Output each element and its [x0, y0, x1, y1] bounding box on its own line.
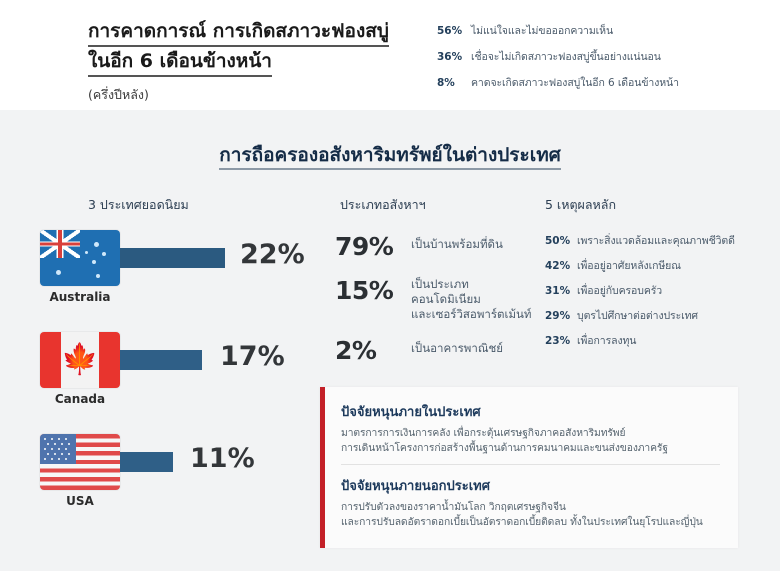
top-stat-label: คาดจะเกิดสภาวะฟองสบู่ในอีก 6 เดือนข้างหน…: [471, 74, 679, 91]
reason-label: เพื่อการลงทุน: [577, 332, 636, 349]
top-stats-list: 56% ไม่แน่ใจและไม่ขอออกความเห็น 36% เชื่…: [437, 22, 679, 100]
bar-canada: [120, 350, 202, 370]
country-label-canada: Canada: [40, 392, 120, 406]
country-label-australia: Australia: [40, 290, 120, 304]
reason-label: เพื่ออยู่อาศัยหลังเกษียณ: [577, 257, 681, 274]
headline-line-1: การคาดการณ์ การเกิดสภาวะฟองสบู่: [88, 19, 389, 47]
property-type-item: 79% เป็นบ้านพร้อมที่ดิน: [335, 232, 535, 262]
flag-usa-icon: [40, 434, 120, 490]
property-type-label-line1: เป็นอาคารพาณิชย์: [411, 341, 503, 356]
property-type-label-line2: และเซอร์วิสอพาร์ตเม้นท์: [411, 307, 535, 322]
property-type-percent: 79%: [335, 232, 411, 262]
internal-factors-block: ปัจจัยหนุนภายในประเทศ มาตรการการเงินการค…: [341, 401, 720, 465]
reason-percent: 23%: [545, 335, 577, 347]
headline-group: การคาดการณ์ การเกิดสภาวะฟองสบู่ ในอีก 6 …: [88, 19, 389, 105]
internal-factors-line-1: มาตรการการเงินการคลัง เพื่อกระตุ้นเศรษฐก…: [341, 426, 720, 441]
reason-percent: 42%: [545, 260, 577, 272]
external-factors-line-2: และการปรับลดอัตราดอกเบี้ยเป็นอัตราดอกเบี…: [341, 515, 720, 530]
column-header-types: ประเภทอสังหาฯ: [340, 195, 426, 215]
top-stat-item: 56% ไม่แน่ใจและไม่ขอออกความเห็น: [437, 22, 679, 39]
top-section: การคาดการณ์ การเกิดสภาวะฟองสบู่ ในอีก 6 …: [0, 0, 780, 110]
external-factors-title: ปัจจัยหนุนภายนอกประเทศ: [341, 475, 720, 496]
top-stat-percent: 8%: [437, 77, 471, 89]
property-type-item: 15% เป็นประเภทคอนโดมิเนียม และเซอร์วิสอพ…: [335, 276, 535, 322]
headline-subtitle: (ครึ่งปีหลัง): [88, 85, 389, 105]
supporting-factors-panel: ปัจจัยหนุนภายในประเทศ มาตรการการเงินการค…: [320, 387, 738, 548]
main-section: การถือครองอสังหาริมทรัพย์ในต่างประเทศ 3 …: [0, 110, 780, 571]
top-stat-percent: 56%: [437, 25, 471, 37]
reason-label: เพราะสิ่งแวดล้อมและคุณภาพชีวิตดี: [577, 232, 735, 249]
reason-item: 31% เพื่ออยู่กับครอบครัว: [545, 282, 765, 299]
property-type-label: เป็นบ้านพร้อมที่ดิน: [411, 232, 503, 252]
bar-usa: [120, 452, 173, 472]
flag-australia-icon: [40, 230, 120, 286]
reason-percent: 29%: [545, 310, 577, 322]
top-stat-percent: 36%: [437, 51, 471, 63]
country-label-usa: USA: [40, 494, 120, 508]
column-header-countries: 3 ประเทศยอดนิยม: [88, 195, 189, 215]
property-type-label: เป็นประเภทคอนโดมิเนียม และเซอร์วิสอพาร์ต…: [411, 276, 535, 322]
reason-label: บุตรไปศึกษาต่อต่างประเทศ: [577, 307, 698, 324]
property-type-percent: 2%: [335, 336, 411, 366]
reason-label: เพื่ออยู่กับครอบครัว: [577, 282, 662, 299]
external-factors-line-1: การปรับตัวลงของราคาน้ำมันโลก วิกฤตเศรษฐก…: [341, 500, 720, 515]
internal-factors-line-2: การเดินหน้าโครงการก่อสร้างพื้นฐานด้านการ…: [341, 441, 720, 456]
main-title-text: การถือครองอสังหาริมทรัพย์ในต่างประเทศ: [219, 144, 561, 170]
main-title: การถือครองอสังหาริมทรัพย์ในต่างประเทศ: [0, 110, 780, 170]
property-type-label-line1: เป็นประเภทคอนโดมิเนียม: [411, 277, 535, 307]
reason-item: 50% เพราะสิ่งแวดล้อมและคุณภาพชีวิตดี: [545, 232, 765, 249]
property-type-label: เป็นอาคารพาณิชย์: [411, 336, 503, 356]
reason-percent: 50%: [545, 235, 577, 247]
footer-strip: [0, 571, 780, 581]
country-row: 22% Australia: [40, 230, 330, 332]
reason-percent: 31%: [545, 285, 577, 297]
reason-item: 42% เพื่ออยู่อาศัยหลังเกษียณ: [545, 257, 765, 274]
property-type-item: 2% เป็นอาคารพาณิชย์: [335, 336, 535, 366]
bar-australia: [120, 248, 225, 268]
bar-value-usa: 11%: [190, 443, 255, 474]
column-header-reasons: 5 เหตุผลหลัก: [545, 195, 616, 215]
reasons-list: 50% เพราะสิ่งแวดล้อมและคุณภาพชีวิตดี 42%…: [545, 232, 765, 357]
top-stat-item: 36% เชื่อจะไม่เกิดสภาวะฟองสบู่ขึ้นอย่างแ…: [437, 48, 679, 65]
headline-line-2: ในอีก 6 เดือนข้างหน้า: [88, 49, 272, 77]
bar-value-canada: 17%: [220, 341, 285, 372]
country-bar-chart: 22% Australia 🍁 17% Canada: [40, 230, 330, 536]
country-row: 11% USA: [40, 434, 330, 536]
external-factors-block: ปัจจัยหนุนภายนอกประเทศ การปรับตัวลงของรา…: [341, 475, 720, 538]
bar-value-australia: 22%: [240, 239, 305, 270]
country-row: 🍁 17% Canada: [40, 332, 330, 434]
top-stat-label: เชื่อจะไม่เกิดสภาวะฟองสบู่ขึ้นอย่างแน่นอ…: [471, 48, 661, 65]
top-stat-label: ไม่แน่ใจและไม่ขอออกความเห็น: [471, 22, 613, 39]
property-type-percent: 15%: [335, 276, 411, 306]
internal-factors-title: ปัจจัยหนุนภายในประเทศ: [341, 401, 720, 422]
property-types-list: 79% เป็นบ้านพร้อมที่ดิน 15% เป็นประเภทคอ…: [335, 232, 535, 380]
flag-canada-icon: 🍁: [40, 332, 120, 388]
property-type-label-line1: เป็นบ้านพร้อมที่ดิน: [411, 237, 503, 252]
top-stat-item: 8% คาดจะเกิดสภาวะฟองสบู่ในอีก 6 เดือนข้า…: [437, 74, 679, 91]
reason-item: 23% เพื่อการลงทุน: [545, 332, 765, 349]
column-headers: 3 ประเทศยอดนิยม ประเภทอสังหาฯ 5 เหตุผลหล…: [0, 195, 780, 215]
reason-item: 29% บุตรไปศึกษาต่อต่างประเทศ: [545, 307, 765, 324]
